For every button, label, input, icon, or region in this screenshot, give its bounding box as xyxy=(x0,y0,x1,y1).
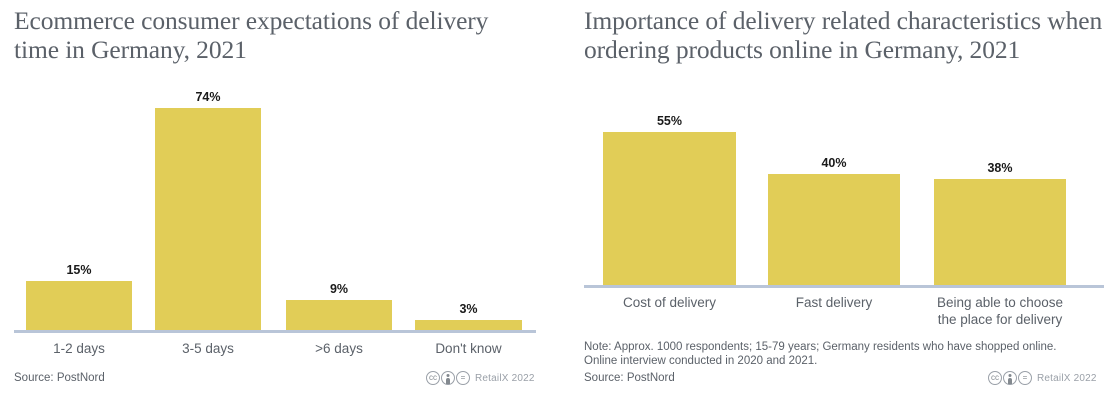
left-chart-panel: Ecommerce consumer expectations of deliv… xyxy=(0,0,560,408)
bar-group: 40% xyxy=(768,112,900,285)
right-chart-axis-line xyxy=(584,285,1104,288)
right-license-block: cc = RetailX 2022 xyxy=(988,371,1097,385)
bar-value-label: 55% xyxy=(603,114,736,128)
category-label: Fast delivery xyxy=(768,294,900,311)
bar-group: 3% xyxy=(415,88,522,330)
bar-group: 9% xyxy=(286,88,392,330)
right-chart-plot-area: 55% 40% 38% xyxy=(570,112,1119,285)
left-source-text: Source: PostNord xyxy=(14,372,105,384)
bar-value-label: 9% xyxy=(286,282,392,296)
bar[interactable] xyxy=(603,132,736,285)
category-label: >6 days xyxy=(286,340,392,357)
category-label: Cost of delivery xyxy=(603,294,736,311)
right-chart-panel: Importance of delivery related character… xyxy=(570,0,1119,408)
right-note-line-2: Online interview conducted in 2020 and 2… xyxy=(584,354,817,369)
left-chart-plot-area: 15% 74% 9% 3% xyxy=(0,88,560,330)
right-chart-title: Importance of delivery related character… xyxy=(584,6,1104,64)
creative-commons-icon: cc xyxy=(988,371,1002,385)
bar[interactable] xyxy=(934,179,1066,285)
creative-commons-icon: cc xyxy=(426,371,440,385)
license-text: RetailX 2022 xyxy=(1037,373,1097,384)
left-license-block: cc = RetailX 2022 xyxy=(426,371,535,385)
bar[interactable] xyxy=(26,281,132,330)
left-chart-title: Ecommerce consumer expectations of deliv… xyxy=(14,6,534,64)
category-label: Don't know xyxy=(415,340,522,357)
left-chart-axis-line xyxy=(14,330,536,333)
attribution-person-icon xyxy=(1003,371,1017,385)
bar[interactable] xyxy=(286,300,392,330)
no-derivatives-icon: = xyxy=(1018,371,1032,385)
bar-group: 74% xyxy=(155,88,261,330)
attribution-person-icon xyxy=(441,371,455,385)
bar-value-label: 38% xyxy=(934,161,1066,175)
bar-group: 55% xyxy=(603,112,736,285)
right-source-text: Source: PostNord xyxy=(584,372,675,384)
bar[interactable] xyxy=(768,174,900,285)
bar-value-label: 3% xyxy=(415,302,522,316)
no-derivatives-icon: = xyxy=(456,371,470,385)
bar-value-label: 15% xyxy=(26,263,132,277)
bar-value-label: 40% xyxy=(768,156,900,170)
right-note-line-1: Note: Approx. 1000 respondents; 15-79 ye… xyxy=(584,340,1056,355)
license-text: RetailX 2022 xyxy=(475,373,535,384)
bar-value-label: 74% xyxy=(155,90,261,104)
category-label: Being able to choose the place for deliv… xyxy=(930,294,1070,328)
bar-group: 15% xyxy=(26,88,132,330)
category-label: 1-2 days xyxy=(26,340,132,357)
bar-group: 38% xyxy=(934,112,1066,285)
bar[interactable] xyxy=(155,108,261,330)
bar[interactable] xyxy=(415,320,522,330)
category-label: 3-5 days xyxy=(155,340,261,357)
